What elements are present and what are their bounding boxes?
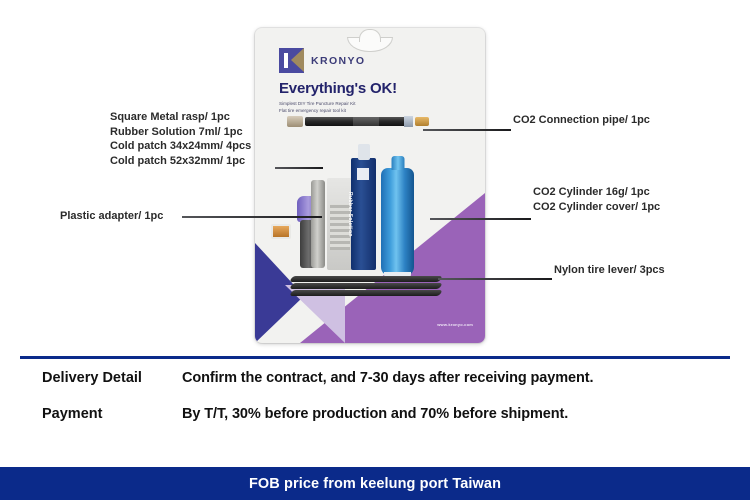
copper-fitting	[271, 224, 291, 239]
section-divider	[20, 356, 730, 359]
product-diagram: KRONYO Everything's OK! Simplest DIY Tir…	[0, 0, 750, 345]
nylon-tire-levers	[291, 276, 441, 302]
leader-line-right-mid	[430, 218, 531, 220]
tire-lever-3	[289, 290, 442, 296]
callout-left-top: Square Metal rasp/ 1pc Rubber Solution 7…	[110, 110, 251, 168]
info-table: Delivery Detail Confirm the contract, an…	[20, 370, 730, 442]
footer-banner: FOB price from keelung port Taiwan	[0, 467, 750, 500]
footer-text: FOB price from keelung port Taiwan	[249, 476, 501, 492]
leader-line-right-bottom	[438, 278, 552, 280]
payment-value: By T/T, 30% before production and 70% be…	[182, 406, 568, 422]
pipe-end-left	[287, 116, 303, 127]
co2-cylinder	[381, 168, 414, 276]
leader-line-right-top	[423, 129, 511, 131]
cylinder-neck	[391, 156, 404, 170]
info-row-payment: Payment By T/T, 30% before production an…	[20, 406, 730, 442]
package-contents: Rubber Solution	[255, 28, 485, 343]
delivery-label: Delivery Detail	[20, 370, 182, 386]
payment-label: Payment	[20, 406, 182, 422]
callout-right-mid: CO2 Cylinder 16g/ 1pc CO2 Cylinder cover…	[533, 185, 660, 214]
tire-lever-2	[289, 283, 442, 289]
co2-connection-pipe	[287, 116, 429, 127]
tube-logo-icon	[357, 168, 369, 180]
leader-line-left-mid	[182, 216, 322, 218]
rubber-solution-tube: Rubber Solution	[351, 158, 376, 270]
tire-lever-1	[289, 276, 442, 282]
delivery-value: Confirm the contract, and 7-30 days afte…	[182, 370, 593, 386]
pipe-hose	[305, 117, 411, 126]
callout-right-top: CO2 Connection pipe/ 1pc	[513, 113, 650, 128]
pipe-collar	[404, 116, 413, 127]
leader-line-left-top	[275, 167, 323, 169]
callout-right-bottom: Nylon tire lever/ 3pcs	[554, 263, 665, 278]
callout-left-mid: Plastic adapter/ 1pc	[60, 209, 163, 224]
product-package: KRONYO Everything's OK! Simplest DIY Tir…	[255, 28, 485, 343]
pipe-end-right	[415, 117, 429, 126]
info-row-delivery: Delivery Detail Confirm the contract, an…	[20, 370, 730, 406]
tube-cap	[358, 144, 370, 160]
square-metal-rasp	[311, 180, 325, 268]
